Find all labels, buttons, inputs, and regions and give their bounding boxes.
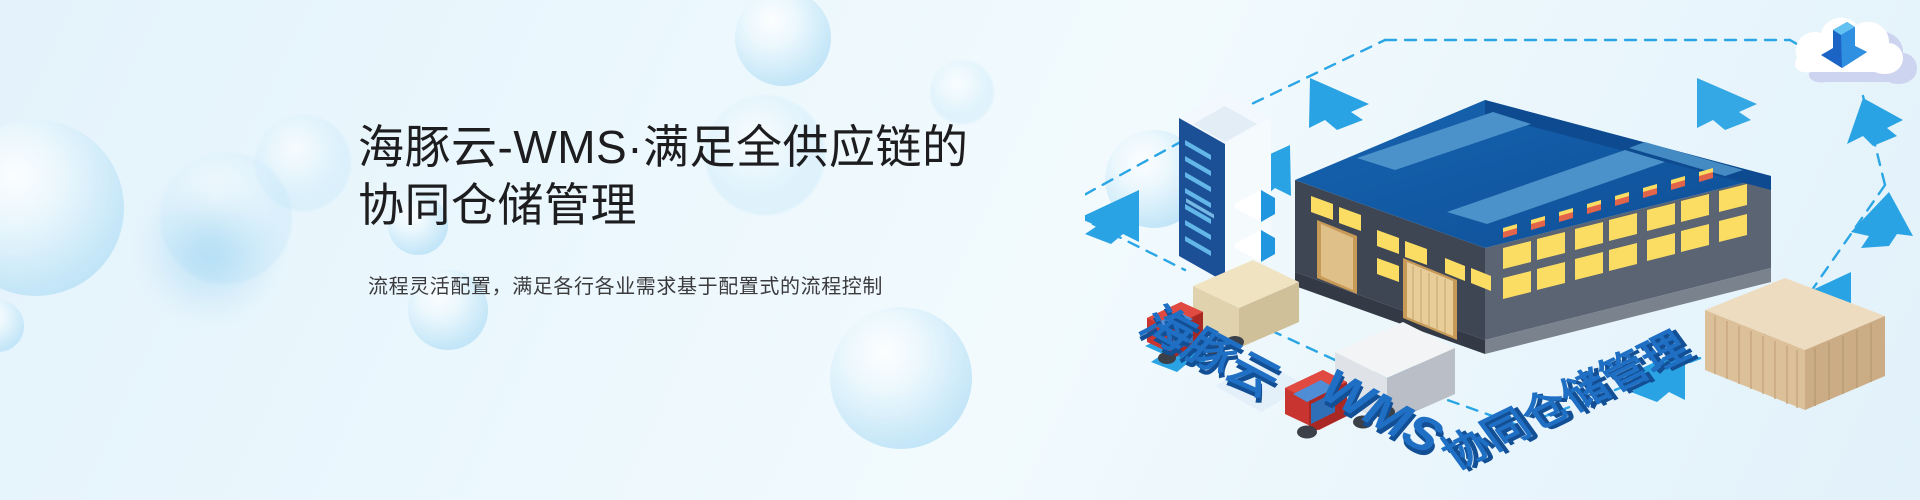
- decor-bubble: [255, 115, 351, 211]
- decor-bubble: [830, 307, 972, 449]
- cloud-download-icon: [1795, 18, 1917, 84]
- page-subtitle: 流程灵活配置，满足各行各业需求基于配置式的流程控制: [368, 272, 1118, 302]
- decor-bubble: [0, 300, 24, 352]
- warehouse-illustration: 海豚云 海豚云 WMS WMS 协同仓储管理 协同仓储管理: [1085, 0, 1920, 500]
- decor-bubble: [0, 120, 124, 296]
- decor-bubble: [735, 0, 831, 86]
- hero-banner: 海豚云-WMS·满足全供应链的 协同仓储管理 流程灵活配置，满足各行各业需求基于…: [0, 0, 1920, 500]
- hero-text-block: 海豚云-WMS·满足全供应链的 协同仓储管理 流程灵活配置，满足各行各业需求基于…: [358, 118, 1118, 302]
- decor-bubble: [930, 60, 994, 124]
- decor-bubble: [160, 152, 292, 284]
- decor-bubble: [145, 185, 275, 315]
- shipping-container-icon: [1705, 278, 1885, 410]
- page-title: 海豚云-WMS·满足全供应链的 协同仓储管理: [358, 118, 1118, 234]
- warehouse-building: [1295, 100, 1771, 354]
